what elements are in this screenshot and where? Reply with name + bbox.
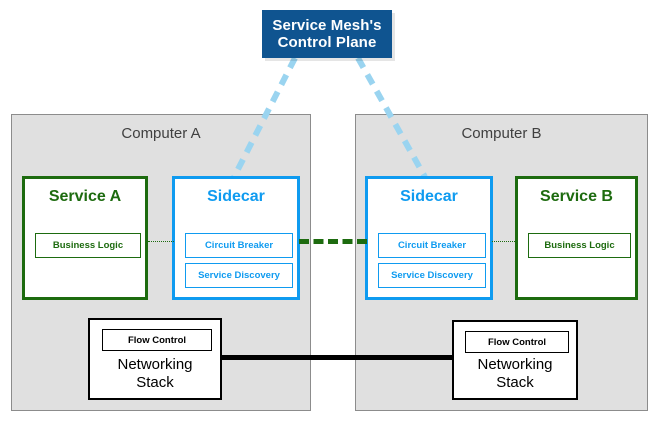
- computer-b-title: Computer B: [356, 125, 647, 143]
- sidecar-a-to-sidecar-b-connector: [299, 239, 367, 244]
- networking-stack-b-label: Networking Stack: [454, 356, 576, 392]
- control-plane-label-line2: Control Plane: [278, 34, 377, 51]
- networking-stack-a-label-line1: Networking: [117, 356, 192, 373]
- service-a-business-logic[interactable]: Business Logic: [35, 233, 141, 258]
- diagram-canvas: Service Mesh's Control Plane Computer A …: [0, 0, 661, 421]
- networking-stack-b-label-line1: Networking: [477, 356, 552, 373]
- networking-stack-a-flow-control[interactable]: Flow Control: [102, 329, 212, 351]
- networking-stack-a-label-line2: Stack: [136, 374, 174, 391]
- service-b-business-logic[interactable]: Business Logic: [528, 233, 631, 258]
- control-plane-label: Service Mesh's Control Plane: [272, 17, 381, 51]
- control-plane-label-line1: Service Mesh's: [272, 17, 381, 34]
- netstack-a-to-netstack-b-connector: [220, 355, 454, 360]
- service-a-box[interactable]: Service A Business Logic: [22, 176, 148, 300]
- networking-stack-a-box[interactable]: Flow Control Networking Stack: [88, 318, 222, 400]
- sidecar-a-title: Sidecar: [175, 187, 297, 206]
- sidecar-b-service-discovery[interactable]: Service Discovery: [378, 263, 486, 288]
- service-a-title: Service A: [25, 187, 145, 206]
- sidecar-b-title: Sidecar: [368, 187, 490, 206]
- networking-stack-a-label: Networking Stack: [90, 356, 220, 392]
- control-plane-box[interactable]: Service Mesh's Control Plane: [262, 10, 392, 58]
- sidecar-b-circuit-breaker[interactable]: Circuit Breaker: [378, 233, 486, 258]
- computer-a-title: Computer A: [12, 125, 310, 143]
- networking-stack-b-flow-control[interactable]: Flow Control: [465, 331, 569, 353]
- networking-stack-b-label-line2: Stack: [496, 374, 534, 391]
- networking-stack-b-box[interactable]: Flow Control Networking Stack: [452, 320, 578, 400]
- service-b-title: Service B: [518, 187, 635, 206]
- service-a-to-sidecar-a-connector: [148, 241, 174, 242]
- sidecar-a-service-discovery[interactable]: Service Discovery: [185, 263, 293, 288]
- sidecar-b-to-service-b-connector: [492, 241, 517, 242]
- sidecar-b-box[interactable]: Sidecar Circuit Breaker Service Discover…: [365, 176, 493, 300]
- sidecar-a-circuit-breaker[interactable]: Circuit Breaker: [185, 233, 293, 258]
- service-b-box[interactable]: Service B Business Logic: [515, 176, 638, 300]
- sidecar-a-box[interactable]: Sidecar Circuit Breaker Service Discover…: [172, 176, 300, 300]
